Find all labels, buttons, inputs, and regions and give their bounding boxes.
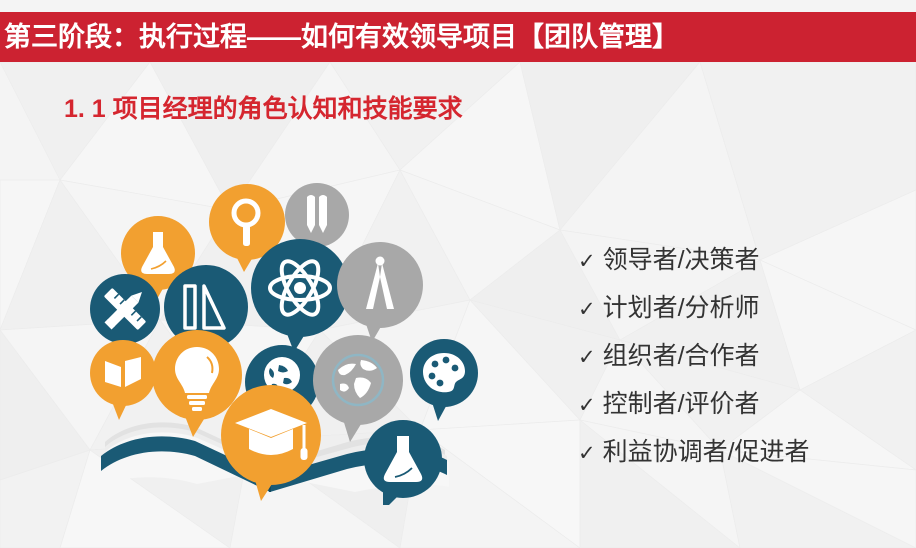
role-bullet-list: ✓ 领导者/决策者 ✓ 计划者/分析师 ✓ 组织者/合作者 ✓ 控制者/评价者 … [578, 248, 898, 488]
bubble-atom-teal [251, 239, 349, 352]
checkmark-icon: ✓ [578, 443, 596, 464]
slide-title-banner: 第三阶段：执行过程——如何有效领导项目【团队管理】 [0, 12, 916, 62]
slide-canvas: 第三阶段：执行过程——如何有效领导项目【团队管理】 1. 1 项目经理的角色认知… [0, 0, 916, 548]
bubble-palette-teal [410, 339, 478, 421]
slide-subtitle: 1. 1 项目经理的角色认知和技能要求 [64, 96, 463, 124]
checkmark-icon: ✓ [578, 299, 596, 320]
slide-title-text: 第三阶段：执行过程——如何有效领导项目【团队管理】 [4, 24, 679, 51]
bubble-graduation-orange [221, 385, 321, 501]
list-item: ✓ 计划者/分析师 [578, 296, 898, 344]
list-item-label: 控制者/评价者 [603, 392, 760, 417]
list-item: ✓ 领导者/决策者 [578, 248, 898, 296]
checkmark-icon: ✓ [578, 251, 596, 272]
bubble-openbook-orange [90, 340, 156, 420]
list-item: ✓ 组织者/合作者 [578, 344, 898, 392]
bubble-flask-teal [364, 420, 442, 505]
checkmark-icon: ✓ [578, 347, 596, 368]
knowledge-book-illustration [55, 175, 495, 505]
list-item-label: 领导者/决策者 [603, 248, 760, 273]
bubble-compass-gray [337, 242, 423, 342]
list-item-label: 组织者/合作者 [603, 344, 760, 369]
list-item-label: 计划者/分析师 [603, 296, 760, 321]
checkmark-icon: ✓ [578, 395, 596, 416]
list-item-label: 利益协调者/促进者 [603, 440, 810, 465]
list-item: ✓ 利益协调者/促进者 [578, 440, 898, 488]
list-item: ✓ 控制者/评价者 [578, 392, 898, 440]
